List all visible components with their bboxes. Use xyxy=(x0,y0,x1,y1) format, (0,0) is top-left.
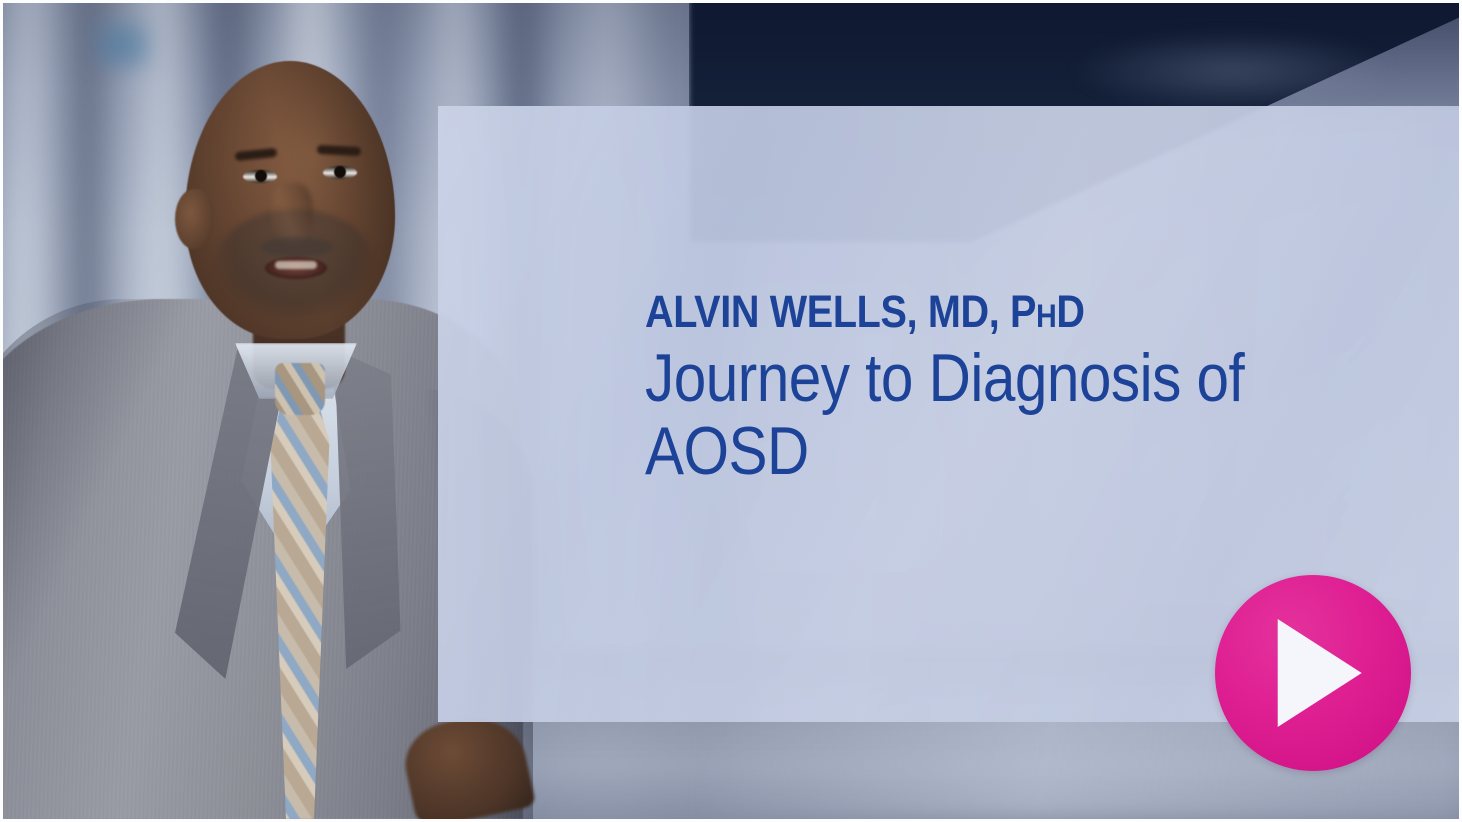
pupil-right xyxy=(334,166,346,178)
background-ceiling-highlight xyxy=(1069,31,1399,111)
title-block: ALVIN WELLS, MD, PHD Journey to Diagnosi… xyxy=(645,289,1405,488)
pupil-left xyxy=(255,170,267,182)
speaker-name-smallcap: H xyxy=(1036,298,1056,334)
shoulder-shadow-left xyxy=(0,299,193,699)
nose xyxy=(271,183,313,243)
speaker-name-suffix: D xyxy=(1056,286,1084,337)
mustache xyxy=(261,237,333,257)
video-thumbnail[interactable]: ALVIN WELLS, MD, PHD Journey to Diagnosi… xyxy=(0,0,1462,822)
speaker-name-prefix: ALVIN WELLS, MD, P xyxy=(645,286,1036,337)
play-button[interactable] xyxy=(1215,575,1411,771)
talk-title: Journey to Diagnosis of AOSD xyxy=(645,342,1299,488)
ear xyxy=(175,189,213,249)
speaker-name: ALVIN WELLS, MD, PHD xyxy=(645,289,1314,334)
tie-knot xyxy=(275,363,325,415)
teeth xyxy=(275,261,317,269)
play-triangle-icon xyxy=(1278,619,1362,727)
